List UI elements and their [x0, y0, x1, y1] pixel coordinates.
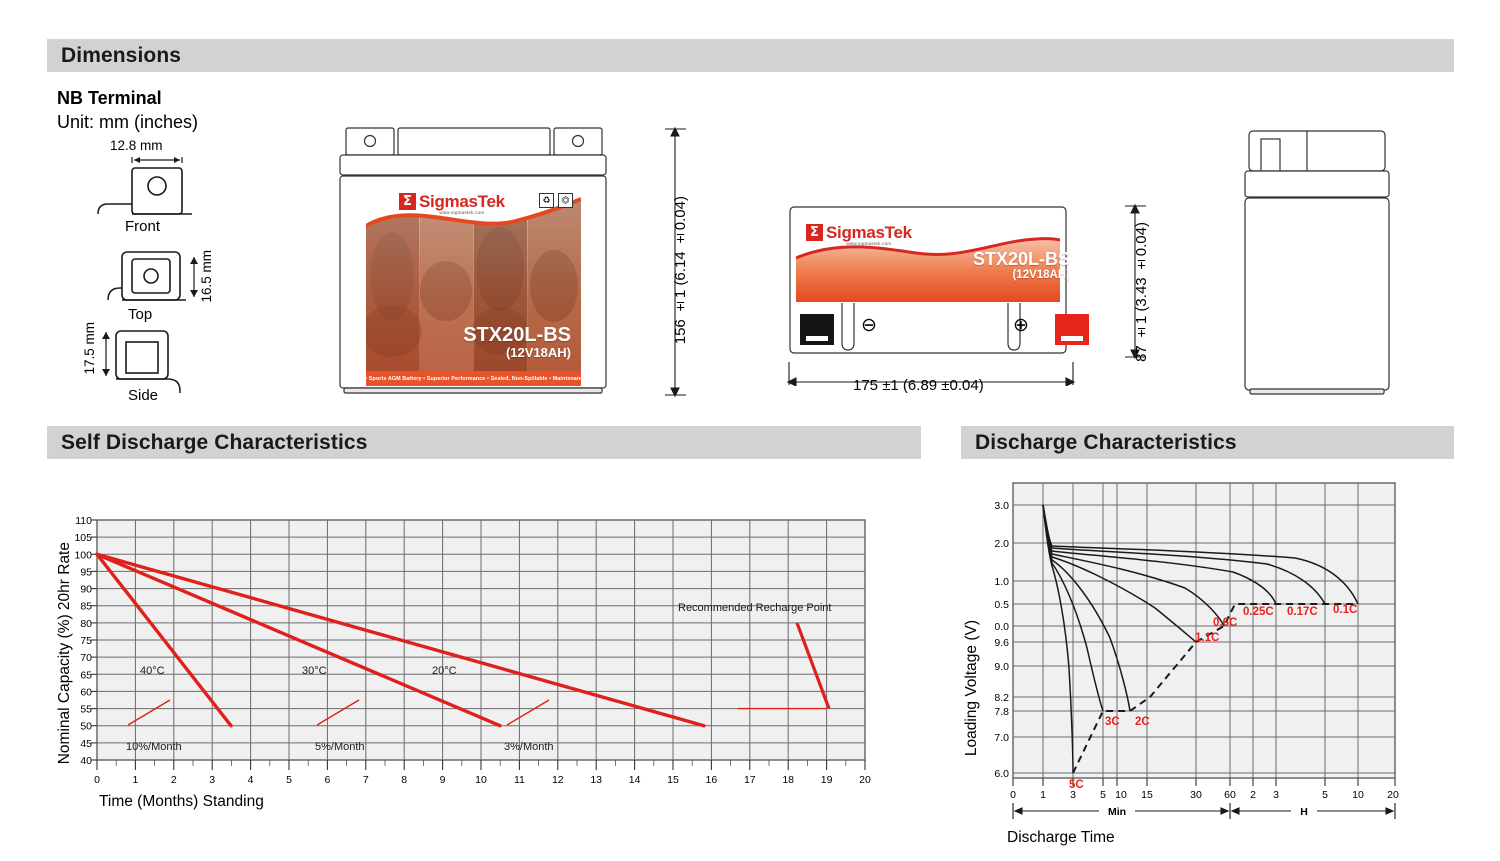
svg-text:20: 20	[859, 774, 871, 786]
battery-end-outline	[1232, 128, 1402, 398]
svg-text:5: 5	[1322, 789, 1328, 801]
svg-text:110: 110	[75, 515, 92, 527]
sigma-icon-side: Σ	[806, 224, 823, 241]
svg-text:95: 95	[80, 566, 92, 578]
svg-text:16: 16	[706, 774, 718, 786]
svg-text:12.0: 12.0	[995, 538, 1009, 550]
unit-hour: H	[1300, 806, 1308, 818]
discharge-title: Discharge Characteristics	[961, 431, 1237, 455]
svg-text:10: 10	[1115, 789, 1127, 801]
svg-text:105: 105	[74, 532, 92, 544]
svg-text:60: 60	[1224, 789, 1236, 801]
svg-text:12: 12	[552, 774, 564, 786]
svg-text:15: 15	[667, 774, 679, 786]
do-not-dispose-icon: ⏣	[558, 193, 573, 208]
negative-terminal-slot	[806, 336, 828, 341]
svg-text:10.0: 10.0	[995, 621, 1009, 633]
label-3c: 3C	[1105, 716, 1120, 728]
svg-text:80: 80	[80, 618, 92, 630]
discharge-section-header: Discharge Characteristics	[961, 426, 1454, 459]
svg-text:7.8: 7.8	[995, 706, 1009, 718]
svg-text:13.0: 13.0	[995, 500, 1009, 512]
svg-text:6.0: 6.0	[995, 768, 1009, 780]
svg-text:55: 55	[80, 704, 92, 716]
label-2c: 2C	[1135, 716, 1150, 728]
svg-text:3: 3	[1273, 789, 1279, 801]
sigma-icon: Σ	[399, 193, 416, 210]
self-discharge-title: Self Discharge Characteristics	[47, 431, 367, 455]
svg-text:2: 2	[1250, 789, 1256, 801]
label-0-6c: 0.6C	[1213, 617, 1237, 629]
svg-text:4: 4	[248, 774, 254, 786]
label-0-1c: 0.1C	[1333, 604, 1357, 616]
side-height-dimension-text: 87 ±1 (3.43 ±0.04)	[1133, 222, 1150, 362]
svg-text:70: 70	[80, 652, 92, 664]
svg-text:18: 18	[782, 774, 794, 786]
brand-name: SigmasTek	[419, 193, 505, 210]
dimensions-section-header: Dimensions	[47, 39, 1454, 72]
svg-text:30: 30	[1190, 789, 1202, 801]
dimensions-title: Dimensions	[47, 44, 181, 68]
svg-text:50: 50	[80, 721, 92, 733]
self-discharge-section-header: Self Discharge Characteristics	[47, 426, 921, 459]
svg-text:60: 60	[80, 686, 92, 698]
annotation-5-percent: 5%/Month	[315, 741, 365, 753]
unit-min: Min	[1108, 806, 1126, 818]
label-0-17c: 0.17C	[1287, 606, 1318, 618]
discharge-chart: 13.012.011.0 10.510.09.6 9.08.27.8 7.06.…	[995, 478, 1415, 833]
svg-text:10: 10	[1352, 789, 1364, 801]
svg-text:10.5: 10.5	[995, 599, 1009, 611]
svg-text:9.6: 9.6	[995, 637, 1009, 649]
svg-text:65: 65	[80, 669, 92, 681]
positive-terminal-slot	[1061, 336, 1083, 341]
svg-text:100: 100	[74, 549, 92, 561]
annotation-recharge-point: Recommended Recharge Point	[678, 602, 831, 614]
svg-text:15: 15	[1141, 789, 1153, 801]
discharge-y-axis-title: Loading Voltage (V)	[963, 620, 981, 756]
annotation-30c: 30°C	[302, 665, 327, 677]
svg-text:7: 7	[363, 774, 369, 786]
view-label-side: Side	[128, 387, 158, 404]
label-1-1c: 1.1C	[1195, 632, 1219, 644]
svg-text:17: 17	[744, 774, 756, 786]
svg-text:0: 0	[1010, 789, 1016, 801]
svg-text:19: 19	[821, 774, 833, 786]
label-5c: 5C	[1069, 779, 1084, 791]
brand-url-side: www.sigmastek.com	[826, 242, 912, 247]
model-badge-front: STX20L-BS (12V18AH)	[463, 325, 571, 360]
svg-text:90: 90	[80, 584, 92, 596]
annotation-3-percent: 3%/Month	[504, 741, 554, 753]
svg-text:6: 6	[324, 774, 330, 786]
model-number-side: STX20L-BS	[940, 250, 1070, 269]
view-label-front: Front	[125, 218, 160, 235]
terminal-height-dimension: 17.5 mm	[82, 322, 97, 375]
brand-logo-side: Σ SigmasTek www.sigmastek.com	[806, 224, 912, 247]
svg-text:9.0: 9.0	[995, 661, 1009, 673]
svg-text:45: 45	[80, 738, 92, 750]
unit-label: Unit: mm (inches)	[57, 112, 198, 133]
svg-text:8.2: 8.2	[995, 692, 1009, 704]
brand-name-side: SigmasTek	[826, 224, 912, 241]
self-discharge-chart: 110105100 959085 807570 656055 504540	[70, 512, 880, 792]
annotation-20c: 20°C	[432, 665, 457, 677]
nb-terminal-title: NB Terminal	[57, 88, 162, 109]
positive-terminal-block	[1055, 314, 1089, 345]
svg-text:75: 75	[80, 635, 92, 647]
feature-strip: • Power Sports AGM Battery • Superior Pe…	[366, 371, 581, 386]
svg-text:10: 10	[475, 774, 487, 786]
terminal-depth-dimension: 16.5 mm	[199, 250, 214, 303]
svg-text:7.0: 7.0	[995, 732, 1009, 744]
annotation-40c: 40°C	[140, 665, 165, 677]
svg-text:13: 13	[590, 774, 602, 786]
svg-text:11: 11	[514, 774, 525, 786]
terminal-width-dimension: 12.8 mm	[110, 138, 163, 153]
battery-front-label: Σ SigmasTek www.sigmastek.com ♻ ⏣ STX20L…	[366, 181, 581, 386]
svg-text:20: 20	[1387, 789, 1399, 801]
svg-text:9: 9	[440, 774, 446, 786]
brand-url: www.sigmastek.com	[419, 211, 505, 216]
svg-text:14: 14	[629, 774, 641, 786]
view-label-top: Top	[128, 306, 152, 323]
side-length-dimension-text: 175 ±1 (6.89 ±0.04)	[853, 377, 984, 394]
model-badge-side: STX20L-BS (12V18AH)	[940, 250, 1070, 281]
negative-polarity-icon: ⊖	[861, 316, 877, 335]
model-capacity-side: (12V18AH)	[940, 269, 1070, 281]
svg-text:0: 0	[94, 774, 100, 786]
positive-polarity-icon: ⊕	[1013, 316, 1029, 335]
svg-text:1: 1	[1040, 789, 1046, 801]
recycle-icon: ♻	[539, 193, 554, 208]
self-discharge-x-axis-title: Time (Months) Standing	[99, 793, 264, 811]
model-capacity: (12V18AH)	[463, 346, 571, 360]
svg-text:5: 5	[286, 774, 292, 786]
negative-terminal-block	[800, 314, 834, 345]
brand-logo-front: Σ SigmasTek www.sigmastek.com	[399, 193, 505, 216]
front-height-dimension-text: 156 ±1 (6.14 ±0.04)	[672, 196, 689, 344]
svg-text:11.0: 11.0	[995, 576, 1009, 588]
svg-text:1: 1	[132, 774, 138, 786]
svg-text:85: 85	[80, 601, 92, 613]
svg-text:2: 2	[171, 774, 177, 786]
svg-text:8: 8	[401, 774, 407, 786]
svg-text:5: 5	[1100, 789, 1106, 801]
annotation-10-percent: 10%/Month	[126, 741, 182, 753]
model-number: STX20L-BS	[463, 325, 571, 346]
svg-text:40: 40	[80, 755, 92, 767]
label-0-25c: 0.25C	[1243, 606, 1274, 618]
svg-text:3: 3	[209, 774, 215, 786]
